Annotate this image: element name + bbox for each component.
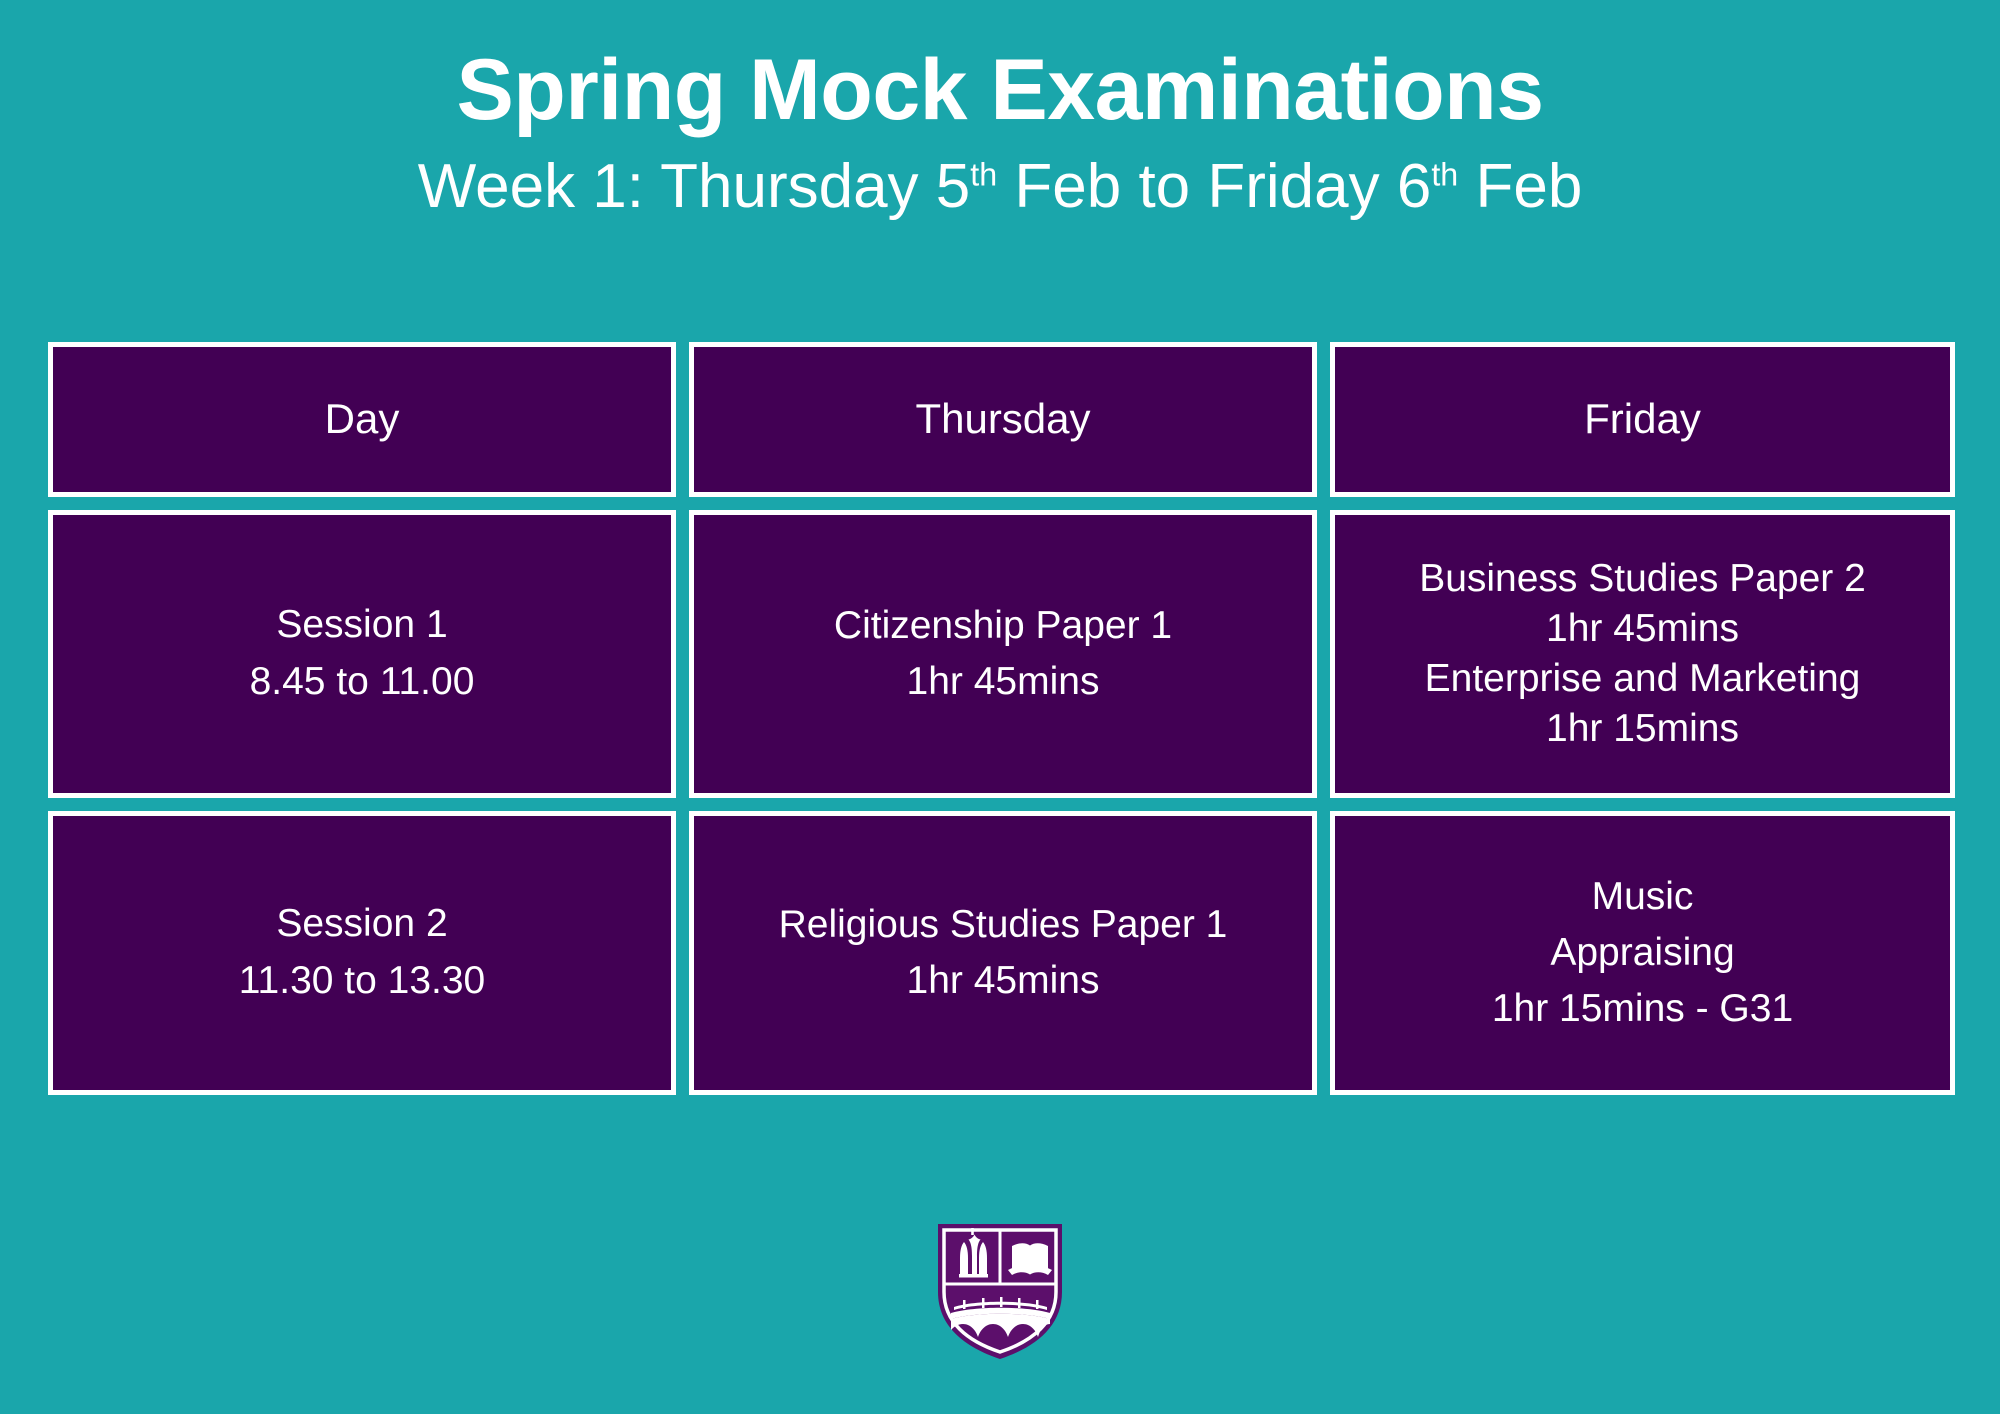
session-1-friday-duration-2: 1hr 15mins [1546, 704, 1739, 754]
subtitle-middle: Feb to Friday 6 [997, 152, 1431, 221]
header-cell-friday: Friday [1330, 342, 1955, 497]
session-1-friday-duration-1: 1hr 45mins [1546, 604, 1739, 654]
exam-timetable-poster: Spring Mock Examinations Week 1: Thursda… [0, 0, 2000, 1414]
session-1-thursday-cell: Citizenship Paper 1 1hr 45mins [689, 510, 1317, 798]
session-2-label-cell: Session 2 11.30 to 13.30 [48, 811, 676, 1095]
session-2-friday-component: Appraising [1550, 928, 1734, 978]
subtitle-prefix: Week 1: Thursday 5 [418, 152, 971, 221]
session-1-thursday-exam: Citizenship Paper 1 [834, 601, 1172, 651]
column-header-thursday: Thursday [915, 394, 1090, 444]
session-1-friday-exam-2: Enterprise and Marketing [1425, 654, 1861, 704]
header-cell-day: Day [48, 342, 676, 497]
page-subtitle: Week 1: Thursday 5th Feb to Friday 6th F… [0, 151, 2000, 222]
session-2-friday-exam: Music [1592, 872, 1694, 922]
session-2-thursday-exam: Religious Studies Paper 1 [779, 900, 1228, 950]
session-2-thursday-cell: Religious Studies Paper 1 1hr 45mins [689, 811, 1317, 1095]
session-2-friday-duration-room: 1hr 15mins - G31 [1492, 984, 1793, 1034]
session-2-name: Session 2 [276, 899, 447, 950]
session-1-friday-exam-1: Business Studies Paper 2 [1419, 554, 1866, 604]
session-1-name: Session 1 [276, 600, 447, 651]
table-row: Session 2 11.30 to 13.30 Religious Studi… [48, 811, 1955, 1095]
subtitle-ordinal-second: th [1431, 156, 1458, 192]
session-1-time: 8.45 to 11.00 [250, 657, 475, 708]
exam-schedule-table: Day Thursday Friday Session 1 8.45 to 11… [48, 342, 1955, 1095]
subtitle-ordinal-first: th [970, 156, 997, 192]
session-1-friday-cell: Business Studies Paper 2 1hr 45mins Ente… [1330, 510, 1955, 798]
table-row: Session 1 8.45 to 11.00 Citizenship Pape… [48, 510, 1955, 798]
session-2-time: 11.30 to 13.30 [239, 956, 486, 1007]
session-1-thursday-duration: 1hr 45mins [907, 657, 1100, 707]
header-cell-thursday: Thursday [689, 342, 1317, 497]
session-2-friday-cell: Music Appraising 1hr 15mins - G31 [1330, 811, 1955, 1095]
school-crest-logo [930, 1214, 1070, 1362]
poster-header: Spring Mock Examinations Week 1: Thursda… [0, 0, 2000, 222]
session-2-thursday-duration: 1hr 45mins [907, 956, 1100, 1006]
table-header-row: Day Thursday Friday [48, 342, 1955, 497]
column-header-friday: Friday [1584, 394, 1701, 444]
page-title: Spring Mock Examinations [0, 44, 2000, 137]
subtitle-suffix: Feb [1458, 152, 1582, 221]
session-1-label-cell: Session 1 8.45 to 11.00 [48, 510, 676, 798]
column-header-day: Day [325, 394, 400, 444]
